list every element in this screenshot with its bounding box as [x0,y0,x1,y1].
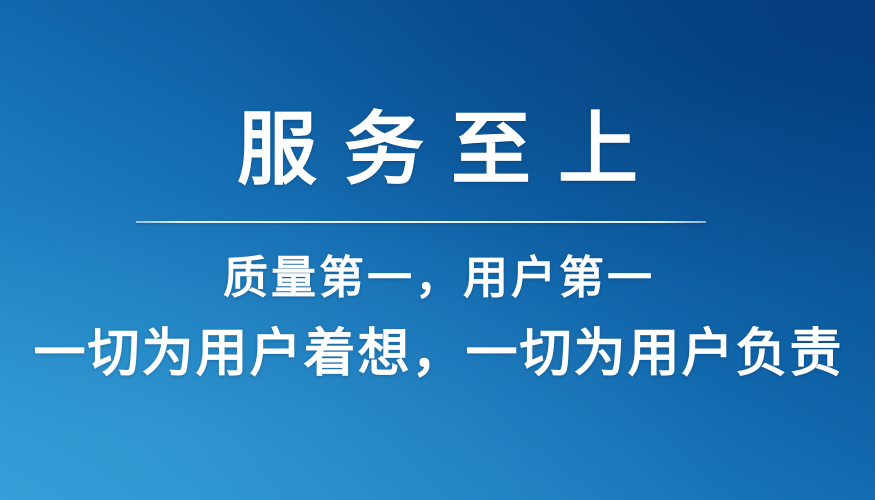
title-divider [136,221,706,223]
slogan-poster: 服务至上 质量第一，用户第一 一切为用户着想，一切为用户负责 [0,0,875,500]
slogan-line-2: 一切为用户着想，一切为用户负责 [0,324,875,384]
slogan-line-1: 质量第一，用户第一 [0,252,875,304]
poster-content: 服务至上 质量第一，用户第一 一切为用户着想，一切为用户负责 [0,0,875,500]
page-title: 服务至上 [0,103,875,197]
